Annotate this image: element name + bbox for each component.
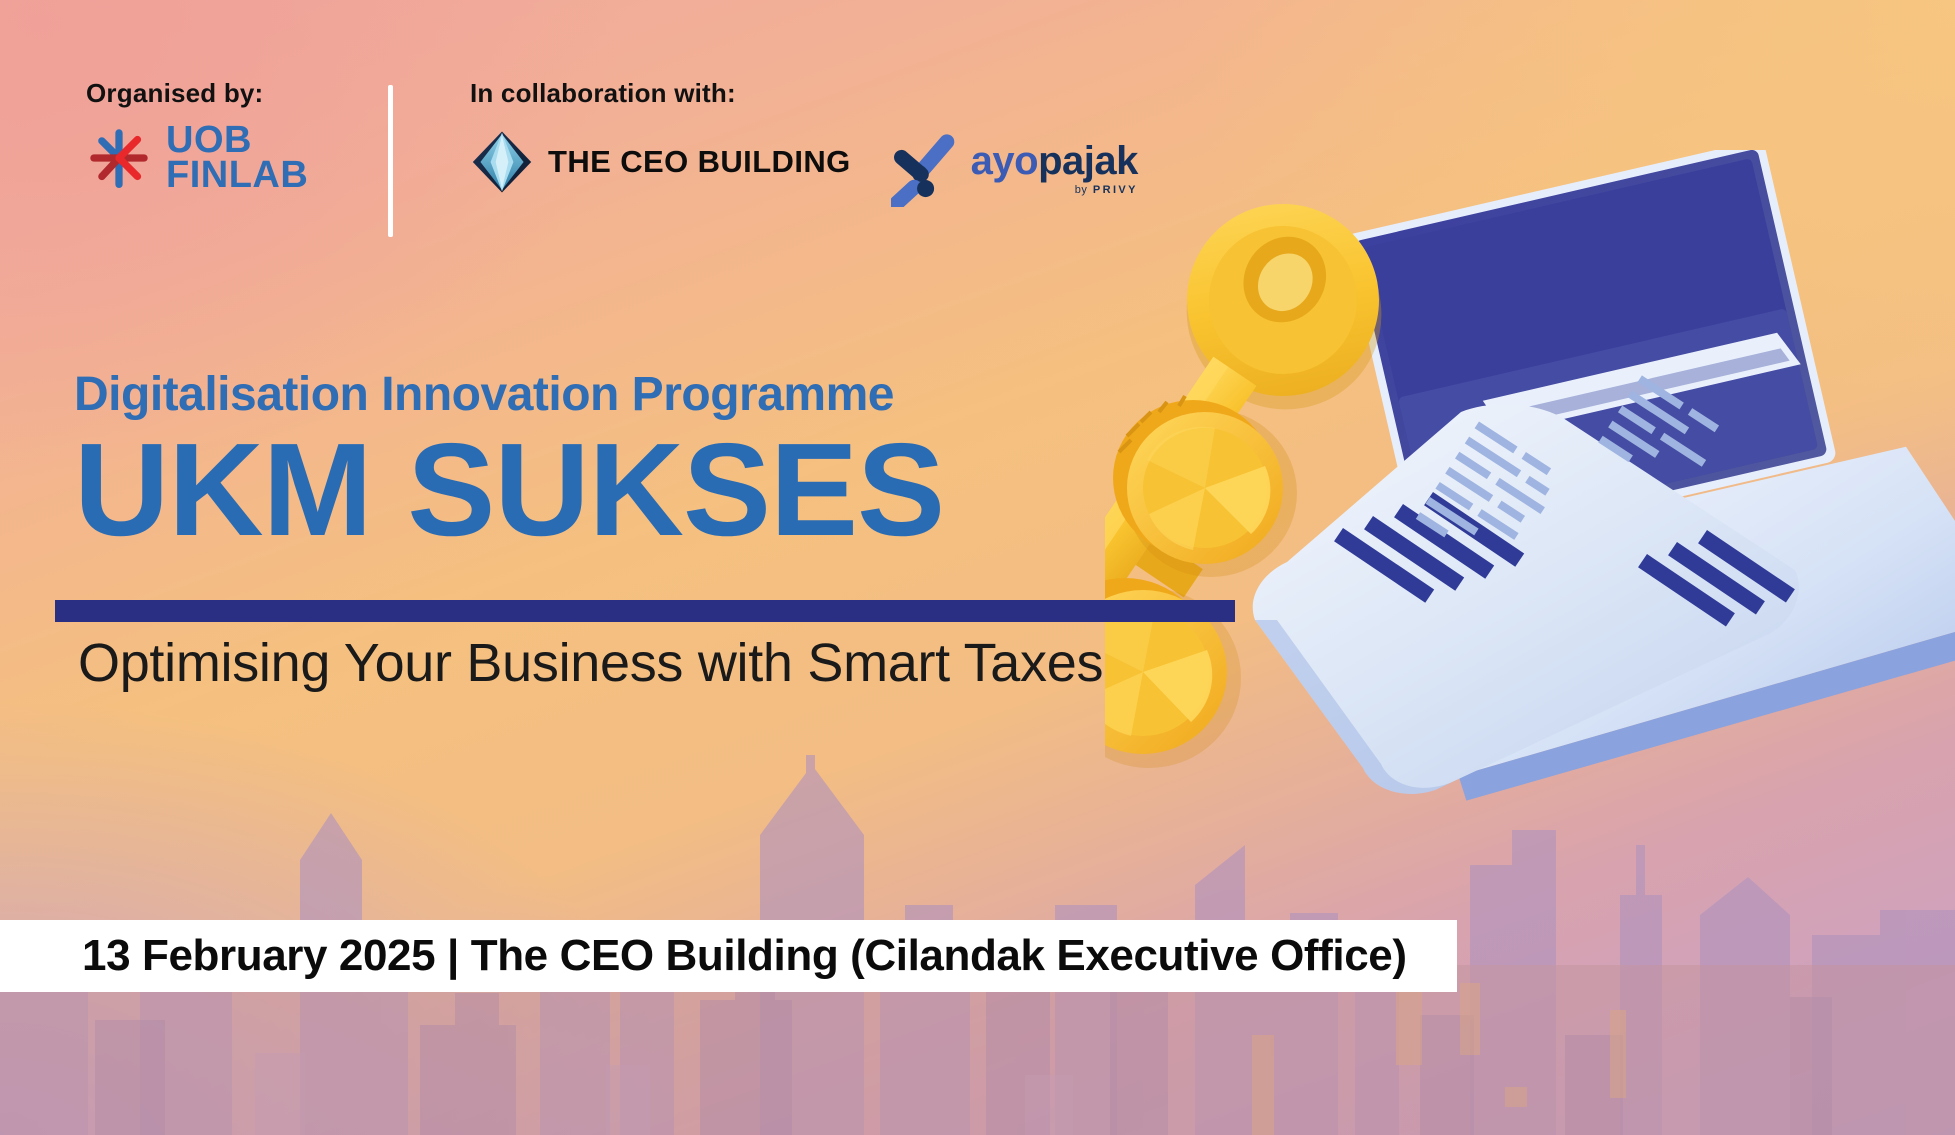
ayopajak-x-icon — [891, 129, 963, 207]
ayopajak-word-a: ayo — [971, 139, 1038, 183]
collaboration-logos: THE CEO BUILDING ayopajak — [470, 123, 1138, 201]
diamond-gem-icon — [470, 129, 534, 195]
ayopajak-name: ayopajak — [971, 141, 1138, 181]
uob-line-1: UOB — [166, 123, 308, 158]
ayopajak-byline-brand: PRIVY — [1093, 184, 1138, 196]
headline-block: Digitalisation Innovation Programme UKM … — [74, 370, 1194, 556]
ayopajak-wordmark: ayopajak by PRIVY — [971, 141, 1138, 196]
ayopajak-logo: ayopajak by PRIVY — [891, 129, 1138, 207]
ayopajak-byline-prefix: by — [1075, 184, 1088, 196]
uob-line-2: FINLAB — [166, 158, 308, 193]
collaboration-label: In collaboration with: — [470, 78, 1138, 109]
logo-divider — [388, 85, 393, 237]
programme-eyebrow: Digitalisation Innovation Programme — [74, 370, 1194, 420]
ayopajak-word-b: pajak — [1038, 139, 1138, 183]
tax-illustration — [1105, 150, 1955, 950]
ceo-building-name: THE CEO BUILDING — [548, 144, 851, 180]
title-underline-rule — [55, 600, 1235, 622]
ceo-building-logo: THE CEO BUILDING — [470, 129, 851, 195]
uob-starburst-icon — [86, 125, 152, 191]
uob-finlab-logo: UOB FINLAB — [86, 123, 356, 193]
event-promo-banner: Organised by: UOB FI — [0, 0, 1955, 1135]
organised-by-label: Organised by: — [86, 78, 356, 109]
event-details-bar: 13 February 2025 | The CEO Building (Cil… — [0, 920, 1457, 992]
ayopajak-byline: by PRIVY — [1075, 184, 1138, 196]
uob-finlab-wordmark: UOB FINLAB — [166, 123, 308, 193]
partner-logo-row: Organised by: UOB FI — [0, 0, 1955, 260]
laptop-receipt-key-coins-icon — [1105, 150, 1955, 950]
event-details-text: 13 February 2025 | The CEO Building (Cil… — [0, 931, 1407, 981]
page-title: UKM SUKSES — [74, 424, 1194, 556]
headline-subtitle: Optimising Your Business with Smart Taxe… — [78, 632, 1103, 694]
collaboration-block: In collaboration with: — [470, 78, 1138, 201]
organised-by-block: Organised by: UOB FI — [86, 78, 356, 193]
